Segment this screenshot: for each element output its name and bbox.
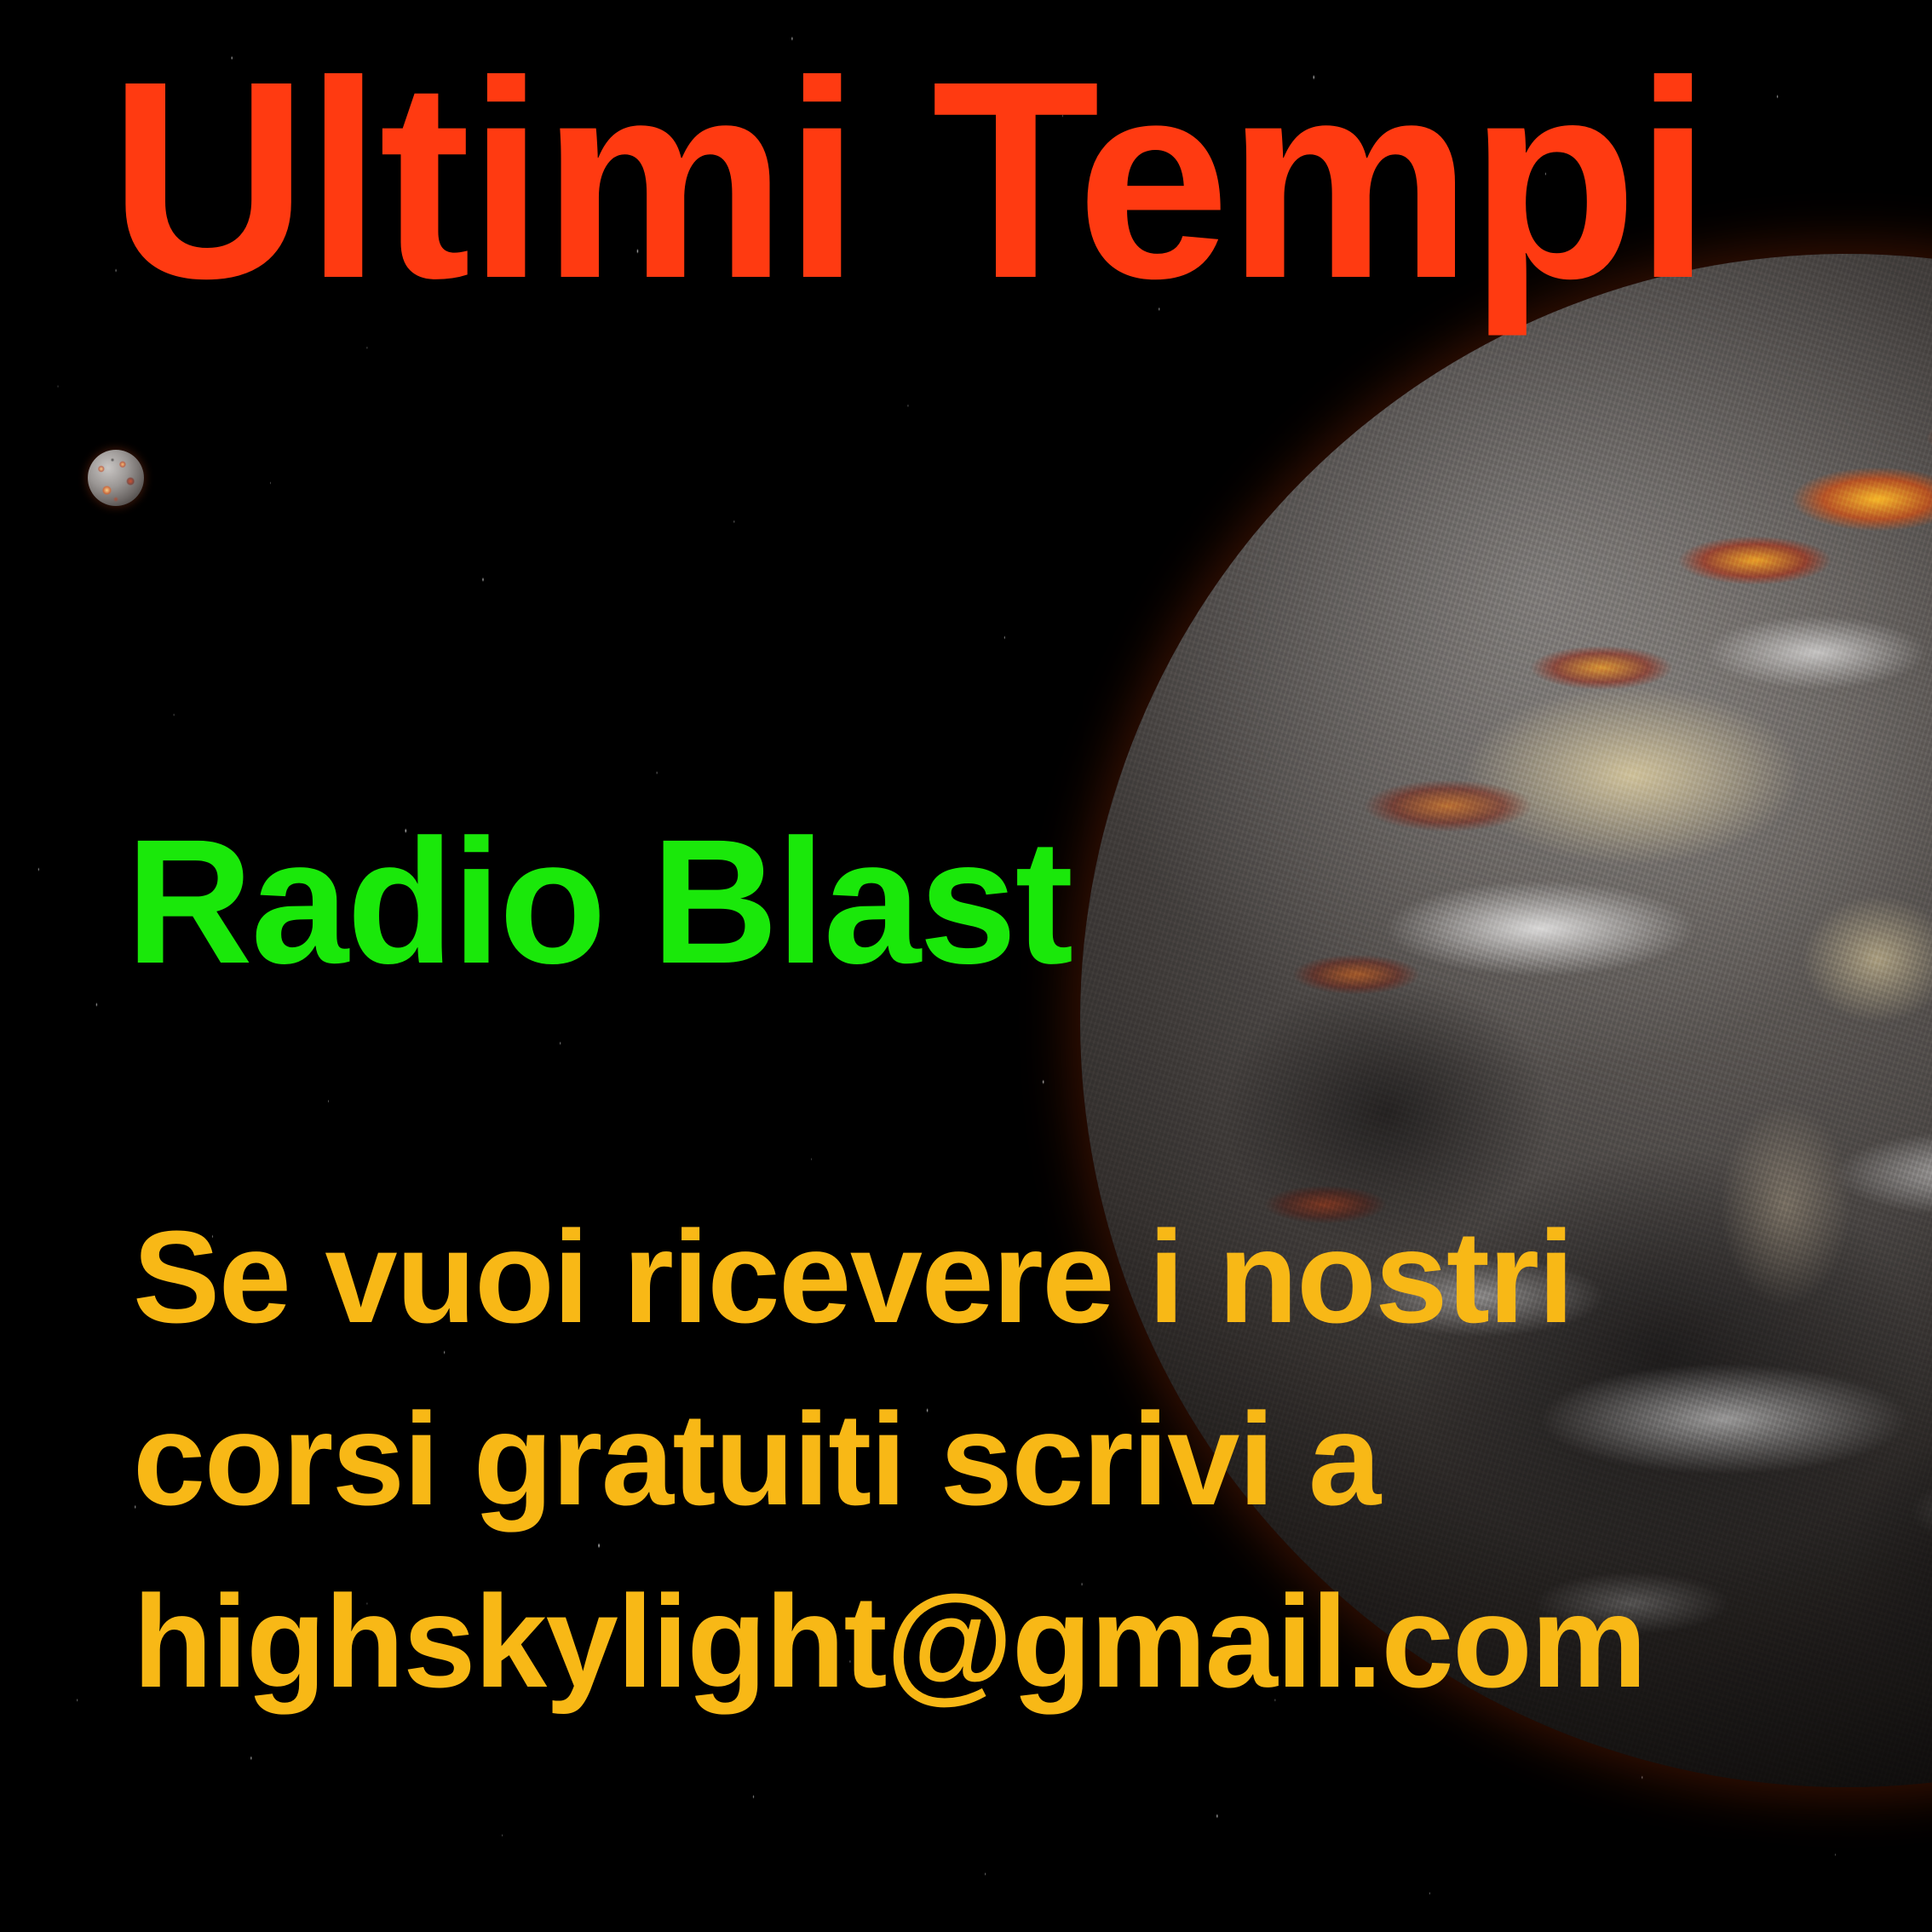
burning-moon-icon <box>88 450 144 506</box>
poster-canvas: Ultimi Tempi Radio Blast Se vuoi ricever… <box>0 0 1932 1932</box>
contact-email: highskylight@gmail.com <box>133 1576 1646 1707</box>
page-title: Ultimi Tempi <box>109 39 1709 320</box>
body-text-line-2: corsi gratuiti scrivi a <box>133 1394 1380 1525</box>
body-text-line-1: Se vuoi ricevere i nostri <box>133 1211 1573 1343</box>
station-name: Radio Blast <box>126 814 1072 991</box>
